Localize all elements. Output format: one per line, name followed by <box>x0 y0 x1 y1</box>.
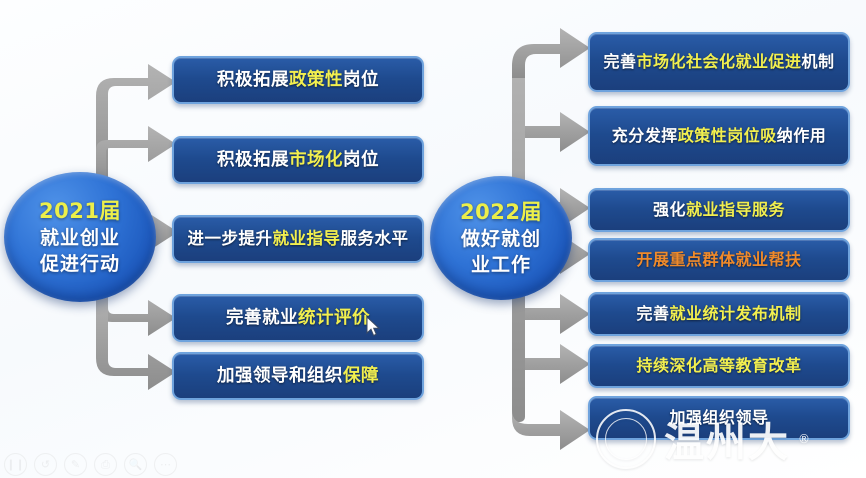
play-pause-icon[interactable]: ❙❙ <box>4 453 27 476</box>
left-item-4[interactable]: 完善就业统计评价 <box>172 294 424 342</box>
left-item-3-highlight: 就业指导 <box>273 229 341 248</box>
left-item-2-highlight: 市场化 <box>289 150 343 170</box>
right-item-2-text-b: 纳作用 <box>777 126 827 145</box>
edit-icon[interactable]: ✎ <box>64 453 87 476</box>
left-item-2-text-a: 积极拓展 <box>217 150 289 170</box>
circle-2021-line2: 促进行动 <box>40 251 120 277</box>
circle-2022[interactable]: 2022届 做好就创 业工作 <box>430 176 572 300</box>
circle-2022-line1: 做好就创 <box>461 226 541 252</box>
left-item-4-highlight: 统计评价 <box>298 308 370 328</box>
mouse-cursor <box>366 316 382 338</box>
left-item-1-highlight: 政策性 <box>289 70 343 90</box>
left-item-2[interactable]: 积极拓展市场化岗位 <box>172 136 424 184</box>
left-item-3-text-b: 服务水平 <box>341 229 409 248</box>
left-item-1-text-b: 岗位 <box>343 70 379 90</box>
right-item-5-highlight: 就业统计发布机制 <box>670 304 802 323</box>
right-item-5[interactable]: 完善就业统计发布机制 <box>588 292 850 336</box>
save-icon[interactable]: ⎙ <box>94 453 117 476</box>
right-item-7[interactable]: 加强组织领导 <box>588 396 850 440</box>
right-item-1-text-a: 完善 <box>603 52 636 71</box>
right-item-5-text-a: 完善 <box>636 304 669 323</box>
circle-2022-year: 2022届 <box>460 198 542 226</box>
right-item-1[interactable]: 完善市场化社会化就业促进机制 <box>588 32 850 92</box>
left-item-5-text-a: 加强领导和组织 <box>217 366 343 386</box>
right-item-2-text-a: 充分发挥 <box>612 126 678 145</box>
right-item-3-text-a: 强化 <box>653 200 686 219</box>
circle-2022-line2: 业工作 <box>471 252 531 278</box>
circle-2021-line1: 就业创业 <box>40 225 120 251</box>
circle-2021[interactable]: 2021届 就业创业 促进行动 <box>4 172 156 302</box>
right-item-1-highlight: 市场化社会化就业促进 <box>636 52 801 71</box>
left-item-5[interactable]: 加强领导和组织保障 <box>172 352 424 400</box>
slide-canvas: 2021届 就业创业 促进行动 积极拓展政策性岗位 积极拓展市场化岗位 进一步提… <box>0 0 866 478</box>
left-item-4-text-a: 完善就业 <box>226 308 298 328</box>
left-item-1-text-a: 积极拓展 <box>217 70 289 90</box>
right-item-2-highlight: 政策性岗位吸 <box>678 126 777 145</box>
right-item-3[interactable]: 强化就业指导服务 <box>588 188 850 232</box>
more-icon[interactable]: ⋯ <box>154 453 177 476</box>
right-item-7-text-a: 加强组织领导 <box>669 408 768 427</box>
left-item-5-highlight: 保障 <box>343 366 379 386</box>
left-item-3[interactable]: 进一步提升就业指导服务水平 <box>172 215 424 263</box>
left-item-1[interactable]: 积极拓展政策性岗位 <box>172 56 424 104</box>
right-item-2[interactable]: 充分发挥政策性岗位吸纳作用 <box>588 106 850 166</box>
circle-2021-year: 2021届 <box>39 197 121 225</box>
search-icon[interactable]: 🔍 <box>124 453 147 476</box>
right-item-6[interactable]: 持续深化高等教育改革 <box>588 344 850 388</box>
right-item-3-highlight: 就业指导服务 <box>686 200 785 219</box>
right-item-4[interactable]: 开展重点群体就业帮扶 <box>588 238 850 282</box>
right-item-4-highlight: 开展重点群体就业帮扶 <box>636 250 801 269</box>
refresh-icon[interactable]: ↺ <box>34 453 57 476</box>
right-item-6-highlight: 持续深化高等教育改革 <box>636 356 801 375</box>
left-item-3-text-a: 进一步提升 <box>188 229 273 248</box>
right-item-1-text-b: 机制 <box>802 52 835 71</box>
left-item-2-text-b: 岗位 <box>343 150 379 170</box>
viewer-toolbar[interactable]: ❙❙ ↺ ✎ ⎙ 🔍 ⋯ <box>4 453 177 476</box>
